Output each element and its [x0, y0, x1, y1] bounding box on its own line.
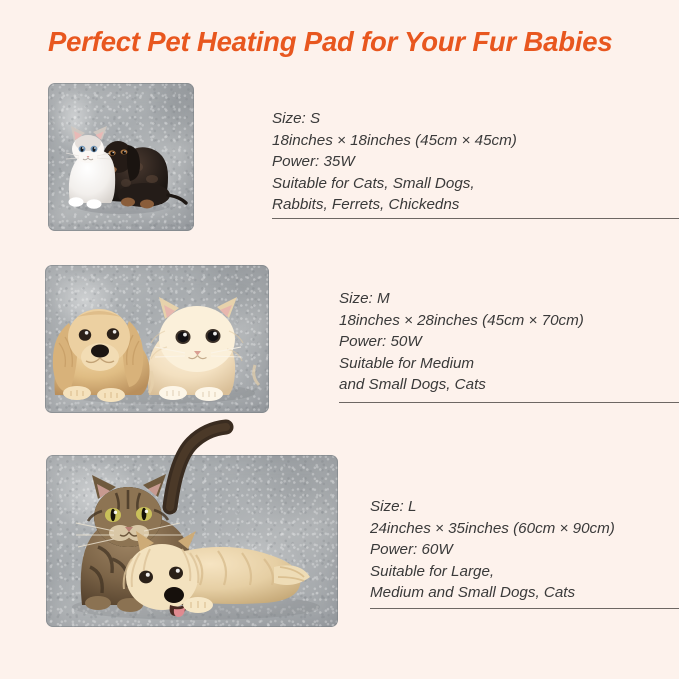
spec-dimensions-medium: 18inches × 28inches (45cm × 70cm): [339, 310, 584, 332]
spec-power-large: Power: 60W: [370, 539, 615, 561]
cocker-spaniel-puppy: [53, 309, 150, 402]
spec-power-medium: Power: 50W: [339, 331, 584, 353]
product-photo-medium: [45, 265, 269, 413]
persian-kitten: [148, 297, 259, 401]
product-photo-large: [46, 455, 338, 627]
page-title: Perfect Pet Heating Pad for Your Fur Bab…: [48, 26, 612, 58]
spec-suitable-large-line2: Medium and Small Dogs, Cats: [370, 582, 615, 604]
divider-small: [272, 218, 679, 219]
product-photo-small: [48, 83, 194, 231]
spec-block-medium: Size: M 18inches × 28inches (45cm × 70cm…: [339, 288, 584, 396]
pets-illustration-large: [46, 455, 338, 627]
spec-size-medium: Size: M: [339, 288, 584, 310]
pets-illustration-medium: [45, 265, 269, 413]
spec-suitable-small-line1: Suitable for Cats, Small Dogs,: [272, 173, 517, 195]
divider-large: [370, 608, 679, 609]
spec-suitable-medium-line1: Suitable for Medium: [339, 353, 584, 375]
spec-suitable-small-line2: Rabbits, Ferrets, Chickedns: [272, 194, 517, 216]
spec-dimensions-small: 18inches × 18inches (45cm × 45cm): [272, 130, 517, 152]
spec-block-small: Size: S 18inches × 18inches (45cm × 45cm…: [272, 108, 517, 216]
spec-suitable-large-line1: Suitable for Large,: [370, 561, 615, 583]
spec-suitable-medium-line2: and Small Dogs, Cats: [339, 374, 584, 396]
spec-block-large: Size: L 24inches × 35inches (60cm × 90cm…: [370, 496, 615, 604]
divider-medium: [339, 402, 679, 403]
spec-power-small: Power: 35W: [272, 151, 517, 173]
spec-size-large: Size: L: [370, 496, 615, 518]
spec-dimensions-large: 24inches × 35inches (60cm × 90cm): [370, 518, 615, 540]
spec-size-small: Size: S: [272, 108, 517, 130]
product-infographic: Perfect Pet Heating Pad for Your Fur Bab…: [0, 0, 679, 679]
ragdoll-kitten: [66, 126, 115, 209]
pets-illustration-small: [48, 83, 194, 231]
